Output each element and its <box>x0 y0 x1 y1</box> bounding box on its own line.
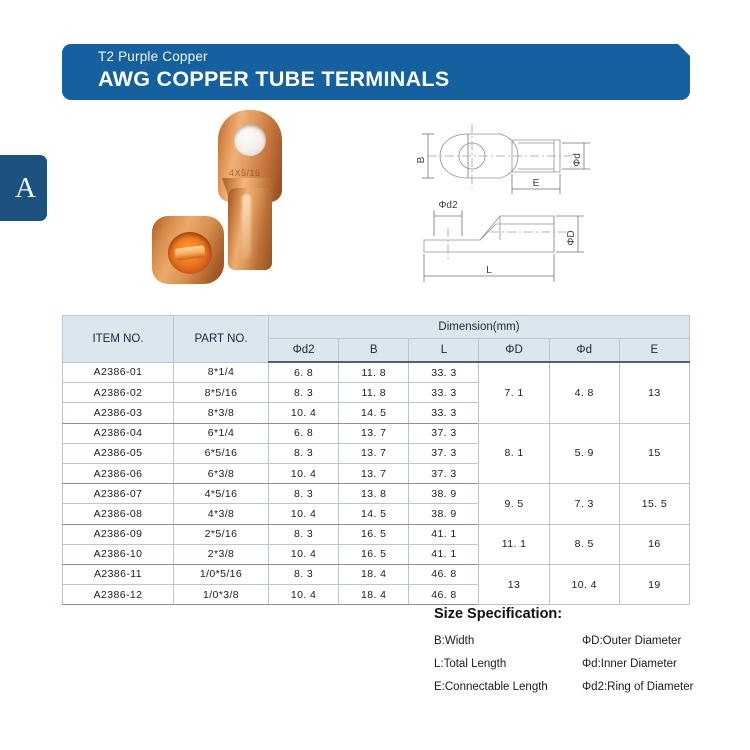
cell-l: 37. 3 <box>409 423 479 443</box>
product-photo: 4X5/16 <box>150 108 340 303</box>
cell-part-no: 4*3/8 <box>174 504 269 524</box>
cell-phid2: 6. 8 <box>269 423 339 443</box>
cell-l: 38. 9 <box>409 504 479 524</box>
header-banner: T2 Purple Copper AWG COPPER TUBE TERMINA… <box>62 44 690 100</box>
size-specification: Size Specification: B:WidthΦD:Outer Diam… <box>434 606 734 693</box>
banner-subtitle: T2 Purple Copper <box>98 49 208 64</box>
cell-e: 13 <box>619 362 689 423</box>
cell-phid2: 8. 3 <box>269 383 339 403</box>
side-tab-a[interactable]: A <box>0 155 47 221</box>
cell-b: 14. 5 <box>339 403 409 423</box>
drawing-svg: B E Φd Φd2 L ΦD <box>404 112 690 292</box>
cell-l: 46. 8 <box>409 564 479 584</box>
cell-b: 11. 8 <box>339 383 409 403</box>
table-row: A2386-111/0*5/168. 318. 446. 81310. 419 <box>63 564 690 584</box>
cell-phid2: 10. 4 <box>269 544 339 564</box>
lug-barrel-highlight <box>242 194 251 260</box>
cell-b: 18. 4 <box>339 564 409 584</box>
cell-part-no: 8*1/4 <box>174 362 269 383</box>
cell-l: 38. 9 <box>409 484 479 504</box>
cell-l: 37. 3 <box>409 463 479 483</box>
cell-phid2: 8. 3 <box>269 484 339 504</box>
cell-e: 15 <box>619 423 689 484</box>
product-lug-small <box>152 216 224 288</box>
cell-phiD: 9. 5 <box>479 484 549 524</box>
drawing-label-phiD: ΦD <box>566 230 577 245</box>
lug-stamp-text: 4X5/16 <box>229 168 261 179</box>
table-header-row-1: ITEM NO. PART NO. Dimension(mm) <box>63 316 690 339</box>
header-phiD: ΦD <box>479 339 549 363</box>
cell-l: 33. 3 <box>409 403 479 423</box>
cell-part-no: 6*1/4 <box>174 423 269 443</box>
cell-phid: 4. 8 <box>549 362 619 423</box>
banner-title: AWG COPPER TUBE TERMINALS <box>98 67 450 92</box>
cell-e: 15. 5 <box>619 484 689 524</box>
cell-b: 13. 7 <box>339 423 409 443</box>
specification-table: ITEM NO. PART NO. Dimension(mm) Φd2 B L … <box>62 315 690 605</box>
cell-part-no: 2*5/16 <box>174 524 269 544</box>
cell-b: 13. 7 <box>339 463 409 483</box>
cell-e: 16 <box>619 524 689 564</box>
cell-phid: 7. 3 <box>549 484 619 524</box>
cell-l: 33. 3 <box>409 362 479 383</box>
cell-b: 14. 5 <box>339 504 409 524</box>
header-e: E <box>619 339 689 363</box>
cell-part-no: 8*3/8 <box>174 403 269 423</box>
cell-phiD: 13 <box>479 564 549 604</box>
cell-phid2: 10. 4 <box>269 403 339 423</box>
cell-phid2: 8. 3 <box>269 443 339 463</box>
cell-part-no: 1/0*3/8 <box>174 585 269 605</box>
drawing-label-phid2: Φd2 <box>438 200 458 211</box>
cell-item-no: A2386-11 <box>63 564 174 584</box>
cell-b: 13. 7 <box>339 443 409 463</box>
cell-item-no: A2386-03 <box>63 403 174 423</box>
size-specification-title: Size Specification: <box>434 606 734 622</box>
cell-phid: 10. 4 <box>549 564 619 604</box>
cell-part-no: 8*5/16 <box>174 383 269 403</box>
size-spec-entry-left: B:Width <box>434 635 582 647</box>
header-b: B <box>339 339 409 363</box>
header-dimension: Dimension(mm) <box>269 316 690 339</box>
cell-item-no: A2386-06 <box>63 463 174 483</box>
header-phid2: Φd2 <box>269 339 339 363</box>
cell-item-no: A2386-12 <box>63 585 174 605</box>
cell-phiD: 11. 1 <box>479 524 549 564</box>
size-spec-entry-left: L:Total Length <box>434 658 582 670</box>
table-row: A2386-018*1/46. 811. 833. 37. 14. 813 <box>63 362 690 383</box>
table-row: A2386-046*1/46. 813. 737. 38. 15. 915 <box>63 423 690 443</box>
header-item-no: ITEM NO. <box>63 316 174 363</box>
table-head: ITEM NO. PART NO. Dimension(mm) Φd2 B L … <box>63 316 690 363</box>
header-l: L <box>409 339 479 363</box>
side-outline <box>424 216 554 252</box>
cell-phiD: 8. 1 <box>479 423 549 484</box>
cell-item-no: A2386-02 <box>63 383 174 403</box>
side-tab-letter: A <box>11 174 36 203</box>
cell-phiD: 7. 1 <box>479 362 549 423</box>
cell-item-no: A2386-01 <box>63 362 174 383</box>
size-spec-entry-right: Φd2:Ring of Diameter <box>582 681 734 693</box>
size-spec-entry-left: E:Connectable Length <box>434 681 582 693</box>
cell-phid2: 10. 4 <box>269 504 339 524</box>
cell-b: 18. 4 <box>339 585 409 605</box>
cell-b: 13. 8 <box>339 484 409 504</box>
size-spec-entry-right: Φd:Inner Diameter <box>582 658 734 670</box>
cell-item-no: A2386-07 <box>63 484 174 504</box>
cell-phid2: 8. 3 <box>269 524 339 544</box>
size-specification-list: B:WidthΦD:Outer DiameterL:Total LengthΦd… <box>434 635 734 693</box>
cell-l: 41. 1 <box>409 524 479 544</box>
drawing-label-phid: Φd <box>572 153 583 167</box>
drawing-label-l: L <box>486 265 492 276</box>
cell-item-no: A2386-09 <box>63 524 174 544</box>
technical-drawings: B E Φd Φd2 L ΦD <box>404 112 690 292</box>
cell-l: 46. 8 <box>409 585 479 605</box>
cell-phid2: 6. 8 <box>269 362 339 383</box>
header-phid: Φd <box>549 339 619 363</box>
cell-phid: 8. 5 <box>549 524 619 564</box>
cell-item-no: A2386-05 <box>63 443 174 463</box>
cell-b: 11. 8 <box>339 362 409 383</box>
product-lug-large: 4X5/16 <box>218 110 282 270</box>
cell-phid2: 10. 4 <box>269 585 339 605</box>
cell-phid: 5. 9 <box>549 423 619 484</box>
cell-part-no: 2*3/8 <box>174 544 269 564</box>
drawing-label-e: E <box>533 178 540 189</box>
table-row: A2386-092*5/168. 316. 541. 111. 18. 516 <box>63 524 690 544</box>
cell-b: 16. 5 <box>339 544 409 564</box>
cell-item-no: A2386-04 <box>63 423 174 443</box>
table-row: A2386-074*5/168. 313. 838. 99. 57. 315. … <box>63 484 690 504</box>
cell-l: 41. 1 <box>409 544 479 564</box>
lug-bolt-hole <box>234 124 266 156</box>
cell-part-no: 1/0*5/16 <box>174 564 269 584</box>
cell-l: 33. 3 <box>409 383 479 403</box>
drawing-label-b: B <box>416 156 427 163</box>
size-spec-entry-right: ΦD:Outer Diameter <box>582 635 734 647</box>
cell-phid2: 10. 4 <box>269 463 339 483</box>
cell-part-no: 6*3/8 <box>174 463 269 483</box>
cell-part-no: 6*5/16 <box>174 443 269 463</box>
cell-b: 16. 5 <box>339 524 409 544</box>
cell-item-no: A2386-10 <box>63 544 174 564</box>
cell-l: 37. 3 <box>409 443 479 463</box>
cell-phid2: 8. 3 <box>269 564 339 584</box>
header-part-no: PART NO. <box>174 316 269 363</box>
cell-item-no: A2386-08 <box>63 504 174 524</box>
cell-e: 19 <box>619 564 689 604</box>
table-body: A2386-018*1/46. 811. 833. 37. 14. 813A23… <box>63 362 690 605</box>
cell-part-no: 4*5/16 <box>174 484 269 504</box>
